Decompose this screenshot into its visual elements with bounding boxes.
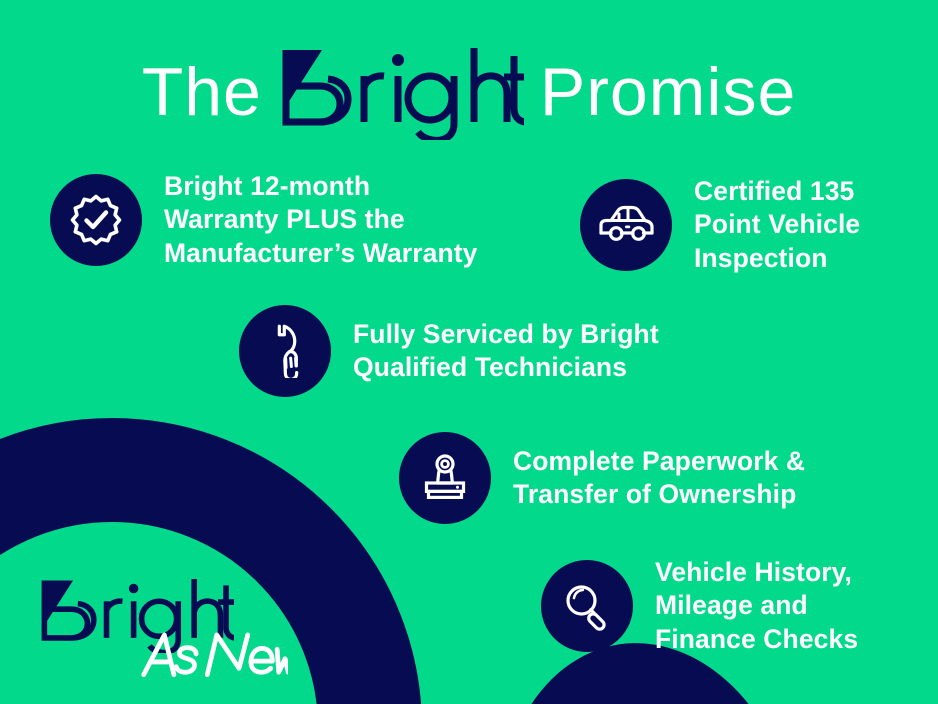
feature-icon-badge-paperwork	[399, 432, 491, 524]
feature-icon-badge-inspection	[580, 179, 672, 271]
car-icon	[597, 202, 655, 248]
feature-label-inspection: Certified 135 Point Vehicle Inspection	[694, 175, 860, 275]
magnifying-glass-icon	[560, 579, 614, 633]
bright-wordmark-title	[278, 44, 524, 140]
title-suffix: Promise	[540, 58, 796, 126]
feature-label-history-checks: Vehicle History, Mileage and Finance Che…	[655, 556, 858, 656]
feature-label-paperwork: Complete Paperwork & Transfer of Ownersh…	[513, 445, 805, 512]
feature-icon-badge-history	[541, 560, 633, 652]
rubber-stamp-icon	[419, 452, 471, 504]
badge-check-icon	[69, 193, 123, 247]
feature-item-servicing: Fully Serviced by Bright Qualified Techn…	[239, 305, 659, 397]
feature-icon-badge-servicing	[239, 305, 331, 397]
hand-wrench-icon	[258, 324, 312, 378]
title-prefix: The	[142, 58, 262, 126]
asnew-wordmark	[140, 627, 288, 686]
page-title: The	[0, 44, 938, 140]
feature-item-warranty: Bright 12-month Warranty PLUS the Manufa…	[50, 170, 478, 270]
brand-logo-lockup	[38, 575, 298, 685]
feature-label-warranty: Bright 12-month Warranty PLUS the Manufa…	[164, 170, 478, 270]
feature-icon-badge-warranty	[50, 174, 142, 266]
feature-item-history-checks: Vehicle History, Mileage and Finance Che…	[541, 556, 858, 656]
promise-banner: The	[0, 0, 938, 704]
feature-item-paperwork: Complete Paperwork & Transfer of Ownersh…	[399, 432, 805, 524]
feature-item-inspection: Certified 135 Point Vehicle Inspection	[580, 175, 860, 275]
feature-label-servicing: Fully Serviced by Bright Qualified Techn…	[353, 318, 659, 385]
